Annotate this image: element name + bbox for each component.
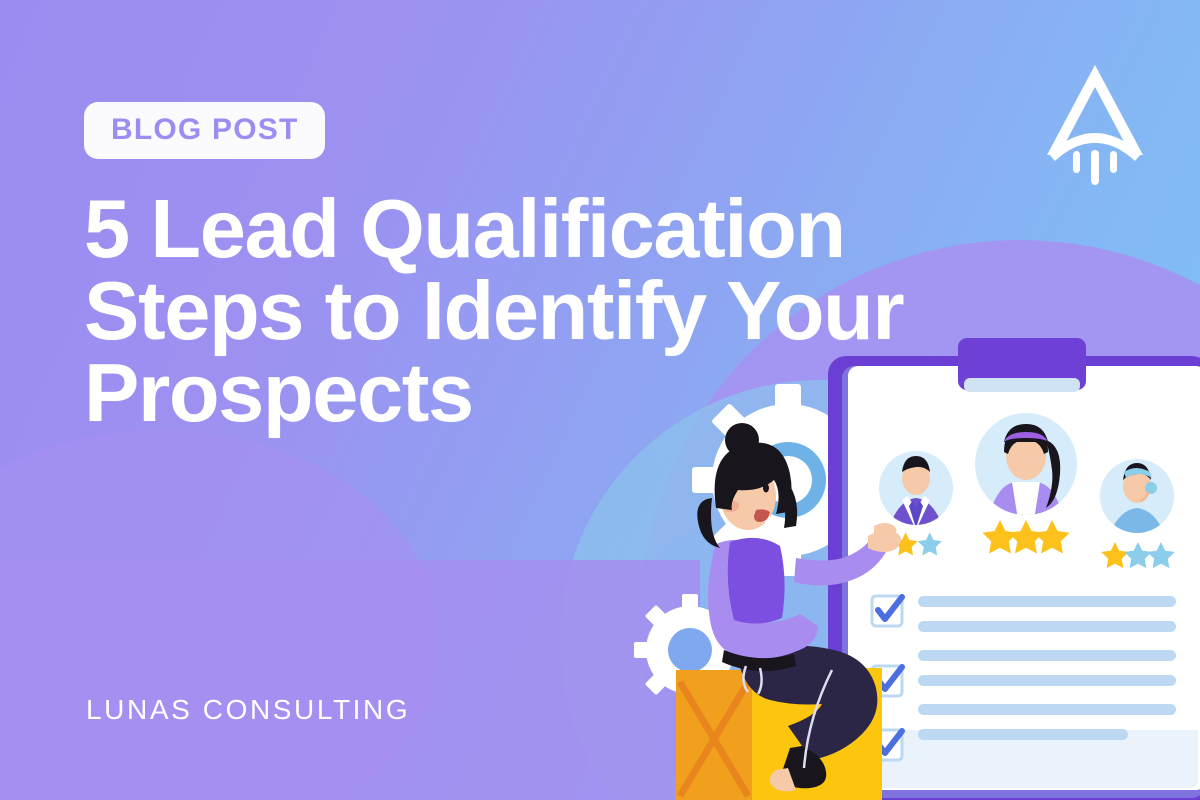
clipboard: [828, 338, 1200, 800]
company-name: LUNAS CONSULTING: [86, 694, 410, 726]
rocket-arrow-logo-icon: [1035, 55, 1155, 185]
page-title-line-1: 5 Lead Qualification: [84, 188, 1094, 270]
background-blob-purple-left: [0, 430, 440, 800]
blog-post-badge: BLOG POST: [84, 102, 325, 159]
lead-qualification-illustration: [620, 330, 1200, 800]
blog-post-banner: BLOG POST 5 Lead Qualification Steps to …: [0, 0, 1200, 800]
